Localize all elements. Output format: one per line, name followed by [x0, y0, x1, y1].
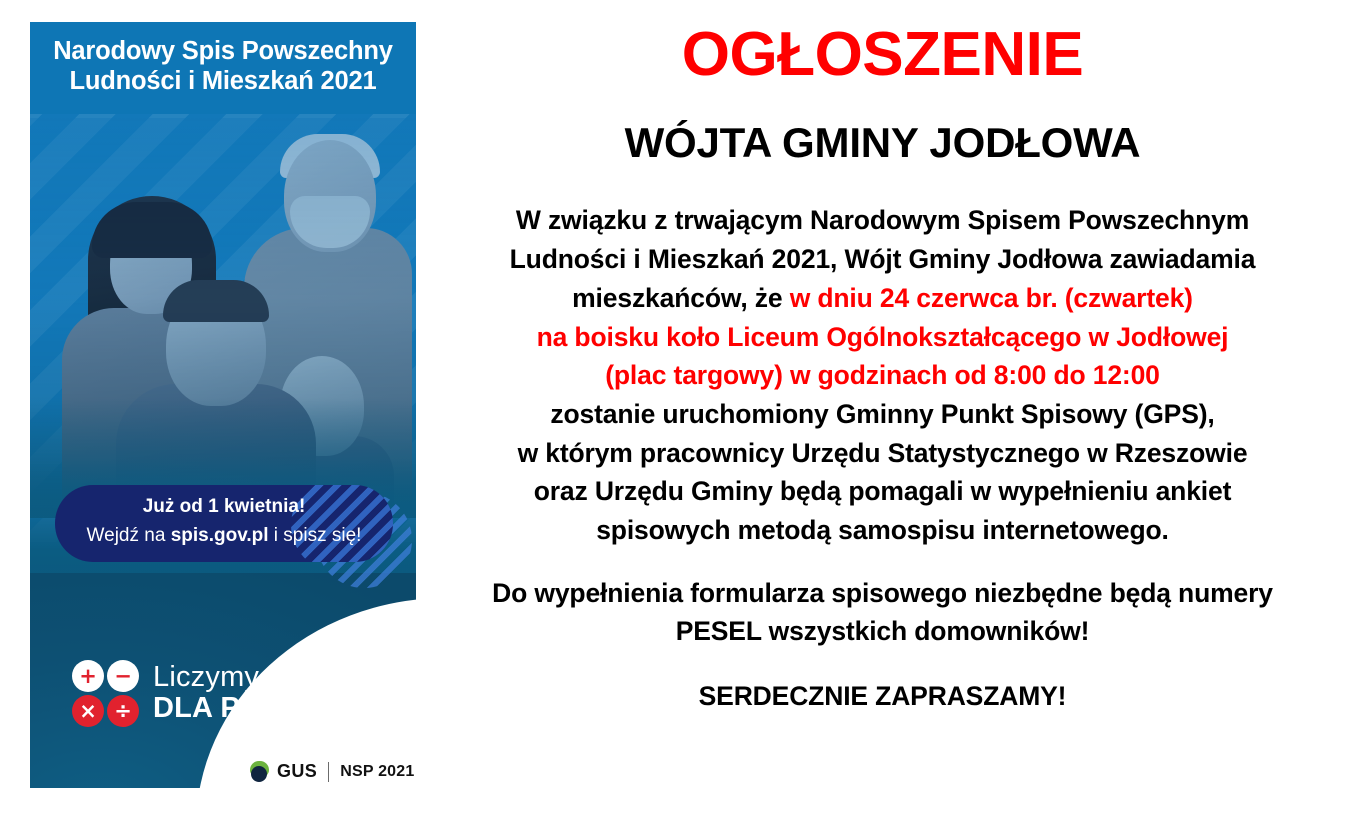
poster-title-line1: Narodowy Spis Powszechny [30, 36, 416, 66]
announcement-page: Narodowy Spis Powszechny Ludności i Mies… [0, 0, 1353, 819]
gus-divider [328, 762, 329, 782]
paragraph1-line3-red: w dniu 24 czerwca br. (czwartek) [790, 283, 1193, 313]
nsp-label: NSP 2021 [340, 763, 414, 781]
announcement-paragraph-2: Do wypełnienia formularza spisowego niez… [430, 550, 1335, 651]
paragraph1-line1: W związku z trwającym Narodowym Spisem P… [430, 201, 1335, 240]
gus-logo-icon [250, 761, 269, 782]
badge-line2-prefix: Wejdź na [87, 525, 171, 546]
badge-line1: Już od 1 kwietnia! [55, 496, 393, 518]
badge-line2: Wejdź na spis.gov.pl i spisz się! [55, 525, 393, 547]
poster-title-line2: Ludności i Mieszkań 2021 [30, 66, 416, 96]
paragraph1-line5-red: (plac targowy) w godzinach od 8:00 do 12… [430, 356, 1335, 395]
nsp-poster: Narodowy Spis Powszechny Ludności i Mies… [30, 22, 416, 788]
announcement-paragraph-1: W związku z trwającym Narodowym Spisem P… [430, 165, 1335, 549]
gus-footer: GUS NSP 2021 [250, 761, 414, 782]
poster-title: Narodowy Spis Powszechny Ludności i Mies… [30, 36, 416, 96]
badge-line2-suffix: i spisz się! [269, 525, 362, 546]
paragraph1-line4-red: na boisku koło Liceum Ogólnokształcącego… [430, 318, 1335, 357]
operator-icons-grid: + − × ÷ [72, 660, 139, 727]
gus-wordmark: GUS [277, 761, 317, 782]
slogan-block: + − × ÷ Liczymy się DLA POLSKI! [72, 660, 339, 727]
plus-icon: + [72, 660, 104, 692]
paragraph1-line6: zostanie uruchomiony Gminny Punkt Spisow… [430, 395, 1335, 434]
paragraph1-line8: oraz Urzędu Gminy będą pomagali w wypełn… [430, 472, 1335, 511]
announcement-closing: SERDECZNIE ZAPRASZAMY! [430, 651, 1335, 716]
minus-icon: − [107, 660, 139, 692]
paragraph2-line1: Do wypełnienia formularza spisowego niez… [430, 574, 1335, 613]
page-subtitle: WÓJTA GMINY JODŁOWA [430, 87, 1335, 165]
paragraph1-line2: Ludności i Mieszkań 2021, Wójt Gminy Jod… [430, 240, 1335, 279]
paragraph2-line2: PESEL wszystkich domowników! [430, 612, 1335, 651]
paragraph1-line3: mieszkańców, że w dniu 24 czerwca br. (c… [430, 279, 1335, 318]
paragraph1-line7: w którym pracownicy Urzędu Statystyczneg… [430, 434, 1335, 473]
divide-icon: ÷ [107, 695, 139, 727]
campaign-badge: Już od 1 kwietnia! Wejdź na spis.gov.pl … [55, 485, 393, 562]
slogan-line1: Liczymy się [153, 662, 339, 692]
times-icon: × [72, 695, 104, 727]
page-title: OGŁOSZENIE [430, 0, 1335, 87]
announcement-content: OGŁOSZENIE WÓJTA GMINY JODŁOWA W związku… [430, 0, 1335, 819]
gus-logo-dot [251, 766, 267, 782]
slogan-line2: DLA POLSKI! [153, 692, 339, 724]
paragraph1-line3-black: mieszkańców, że [572, 283, 790, 313]
badge-url: spis.gov.pl [171, 525, 269, 546]
slogan-text: Liczymy się DLA POLSKI! [153, 662, 339, 725]
paragraph1-line9: spisowych metodą samospisu internetowego… [430, 511, 1335, 550]
